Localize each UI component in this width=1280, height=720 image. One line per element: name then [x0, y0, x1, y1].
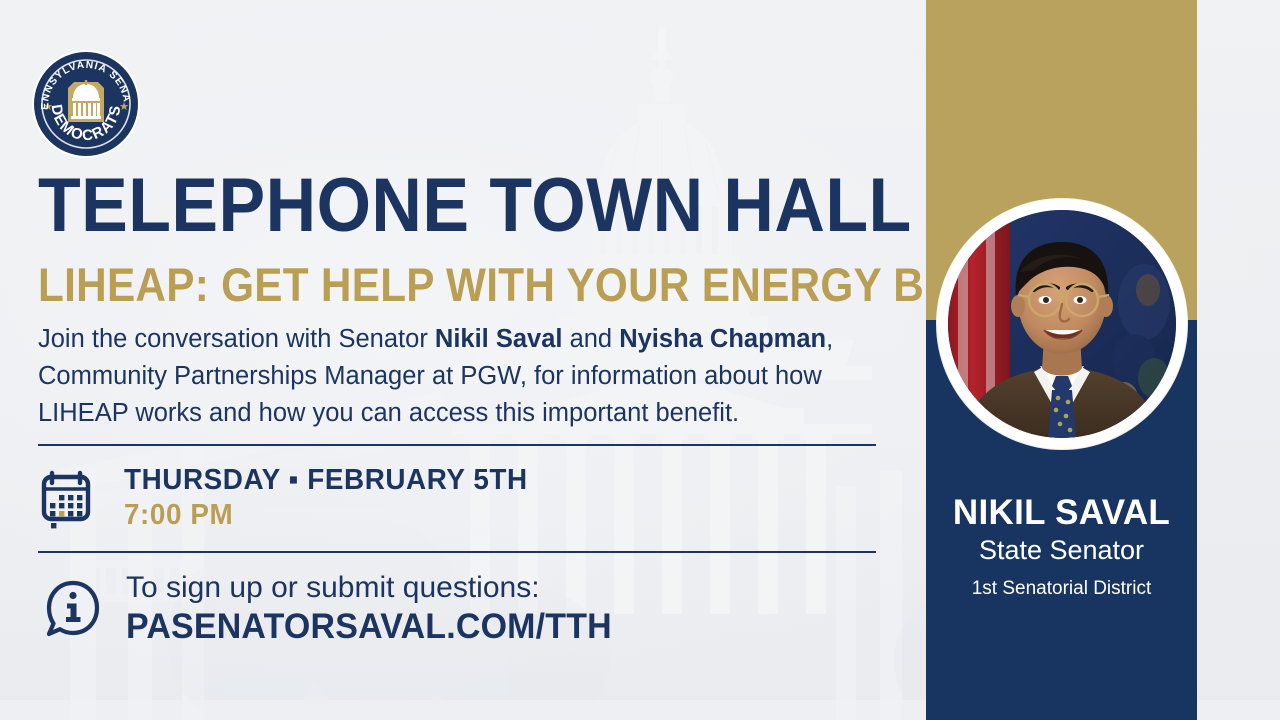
divider-top	[38, 444, 876, 446]
signup-block[interactable]: To sign up or submit questions: PASENATO…	[42, 570, 627, 648]
senator-district: 1st Senatorial District	[926, 577, 1197, 601]
telephone-town-hall-flyer: ★ ★ PENNSYLVANIA SENATE DEMOCRATS TELEPH…	[0, 0, 1280, 720]
divider-bottom	[38, 551, 876, 553]
page-title: TELEPHONE TOWN HALL	[38, 168, 912, 244]
speaker-name-secondary: Nyisha Chapman	[619, 325, 826, 353]
avatar	[948, 210, 1176, 438]
event-time: 7:00 PM	[124, 497, 528, 533]
signup-text: To sign up or submit questions: PASENATO…	[126, 570, 627, 648]
signup-prompt: To sign up or submit questions:	[126, 570, 627, 606]
calendar-icon	[40, 466, 102, 530]
event-date: THURSDAY ▪ FEBRUARY 5TH	[124, 463, 528, 497]
signup-url[interactable]: PASENATORSAVAL.COM/TTH	[126, 606, 612, 648]
description-paragraph: Join the conversation with Senator Nikil…	[38, 321, 866, 432]
speaker-name-primary: Nikil Saval	[435, 325, 563, 353]
event-datetime-text: THURSDAY ▪ FEBRUARY 5TH 7:00 PM	[124, 463, 544, 533]
description-part-1: Join the conversation with Senator	[38, 325, 435, 353]
info-bubble-icon	[42, 577, 104, 641]
senator-name: NIKIL SAVAL	[926, 493, 1197, 533]
senator-title: State Senator	[926, 534, 1197, 566]
page-subtitle: LIHEAP: GET HELP WITH YOUR ENERGY BILLS	[38, 261, 1017, 309]
description-part-2: and	[562, 325, 619, 353]
content-column: TELEPHONE TOWN HALL LIHEAP: GET HELP WIT…	[38, 0, 898, 720]
event-datetime-block: THURSDAY ▪ FEBRUARY 5TH 7:00 PM	[40, 463, 544, 533]
